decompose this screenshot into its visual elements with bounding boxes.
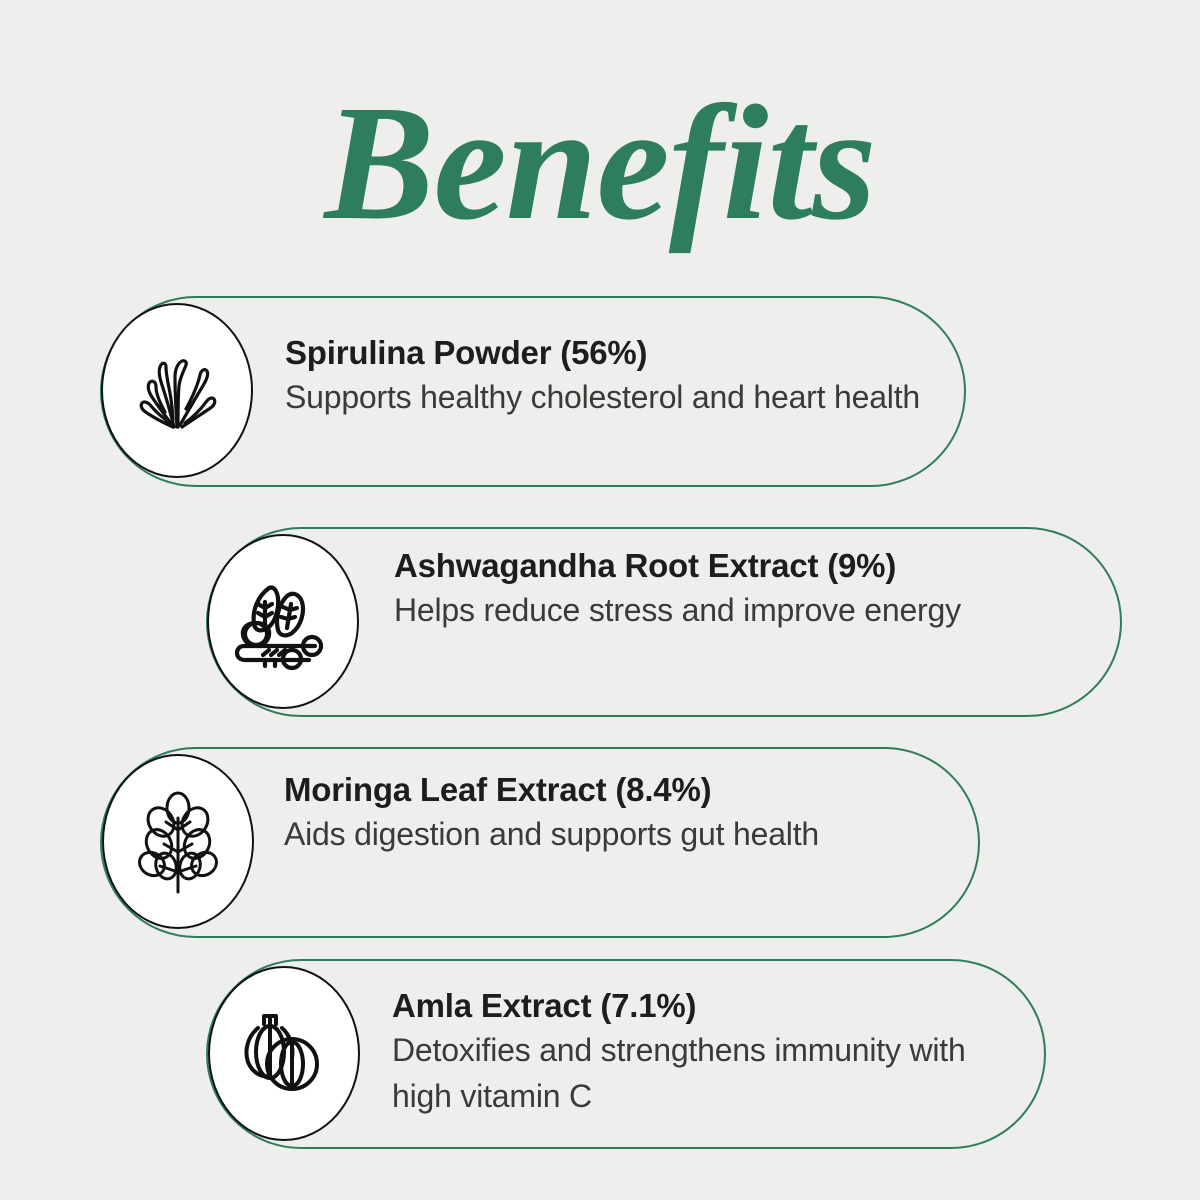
- seaweed-icon: [101, 303, 253, 478]
- benefit-description: Supports healthy cholesterol and heart h…: [285, 374, 925, 420]
- page-title: Benefits: [0, 76, 1200, 249]
- benefit-text-spirulina: Spirulina Powder (56%) Supports healthy …: [285, 332, 925, 420]
- amla-berry-icon: [208, 966, 360, 1141]
- benefit-title: Moringa Leaf Extract (8.4%): [284, 769, 924, 811]
- moringa-leaf-icon: [102, 754, 254, 929]
- benefit-description: Detoxifies and strengthens immunity with…: [392, 1027, 1032, 1119]
- benefit-title: Ashwagandha Root Extract (9%): [394, 545, 1054, 587]
- benefit-title: Amla Extract (7.1%): [392, 985, 1032, 1027]
- benefit-title: Spirulina Powder (56%): [285, 332, 925, 374]
- benefit-text-amla: Amla Extract (7.1%) Detoxifies and stren…: [392, 985, 1032, 1119]
- benefit-description: Helps reduce stress and improve energy: [394, 587, 1034, 633]
- ashwagandha-root-icon: [207, 534, 359, 709]
- benefit-text-ashwagandha: Ashwagandha Root Extract (9%) Helps redu…: [394, 545, 1054, 633]
- benefit-description: Aids digestion and supports gut health: [284, 811, 924, 857]
- benefit-text-moringa: Moringa Leaf Extract (8.4%) Aids digesti…: [284, 769, 924, 857]
